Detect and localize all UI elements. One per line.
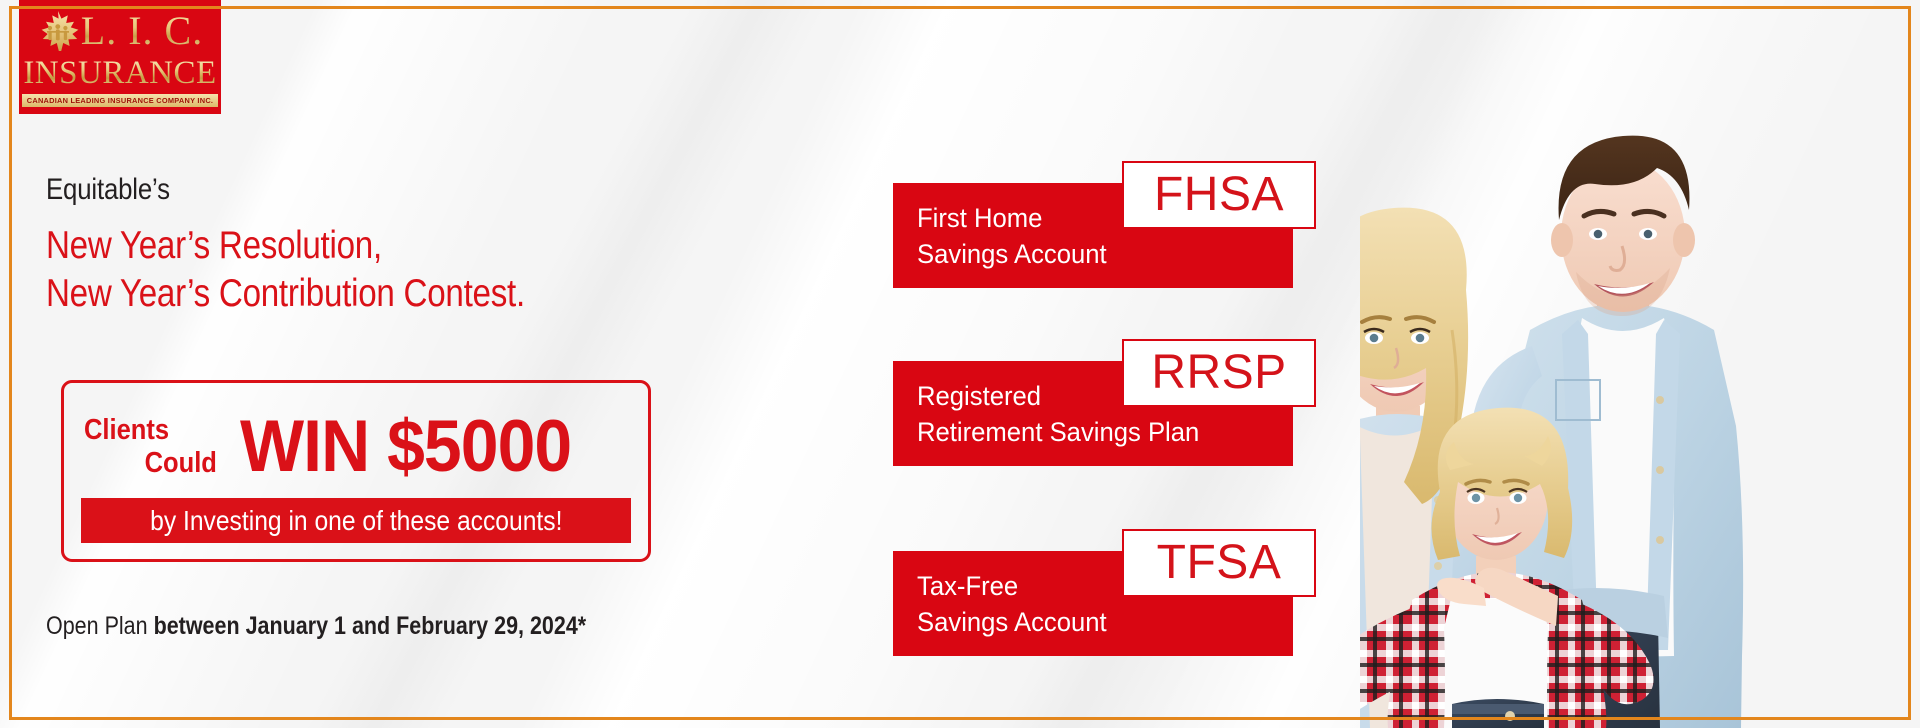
- left-copy-block: Equitable’s New Year’s Resolution, New Y…: [46, 170, 706, 320]
- could-label: Could: [84, 447, 225, 480]
- company-logo[interactable]: L. I. C. INSURANCE CANADIAN LEADING INSU…: [19, 0, 221, 114]
- prize-condition-text: by Investing in one of these accounts!: [150, 504, 562, 538]
- eyebrow-text: Equitable’s: [46, 170, 614, 210]
- badge-tag-fhsa: FHSA: [1122, 161, 1316, 229]
- badge-tfsa-acronym: TFSA: [1157, 537, 1282, 589]
- footnote-plain-text: Open Plan: [46, 612, 154, 640]
- clients-label: Clients: [84, 414, 169, 446]
- badge-tfsa-line-2: Savings Account: [917, 604, 1274, 640]
- logo-top-row: L. I. C.: [37, 6, 203, 56]
- logo-tagline: CANADIAN LEADING INSURANCE COMPANY INC.: [22, 94, 218, 107]
- account-badge-rrsp[interactable]: Registered Retirement Savings Plan RRSP: [893, 339, 1323, 469]
- prize-amount: WIN $5000: [240, 410, 571, 484]
- logo-insurance-text: INSURANCE: [23, 57, 216, 90]
- badge-fhsa-line-2: Savings Account: [917, 236, 1274, 272]
- clients-could-label: Clients Could: [84, 414, 225, 480]
- offer-period-footnote: Open Plan between January 1 and February…: [46, 611, 586, 641]
- logo-lic-text: L. I. C.: [81, 9, 203, 53]
- promotional-banner: L. I. C. INSURANCE CANADIAN LEADING INSU…: [0, 0, 1920, 728]
- headline-line-1: New Year’s Resolution,: [46, 220, 607, 272]
- badge-rrsp-acronym: RRSP: [1151, 347, 1286, 399]
- headline-line-2: New Year’s Contribution Contest.: [46, 268, 607, 320]
- prize-top-row: Clients Could WIN $5000: [64, 397, 648, 497]
- badge-rrsp-line-2: Retirement Savings Plan: [917, 414, 1274, 450]
- badge-fhsa-acronym: FHSA: [1154, 169, 1284, 221]
- prize-condition-strip: by Investing in one of these accounts!: [81, 498, 631, 543]
- account-badge-tfsa[interactable]: Tax-Free Savings Account TFSA: [893, 529, 1323, 659]
- prize-callout-box: Clients Could WIN $5000 by Investing in …: [61, 380, 651, 562]
- maple-leaf-family-icon: [37, 9, 79, 53]
- account-badge-fhsa[interactable]: First Home Savings Account FHSA: [893, 161, 1323, 291]
- family-photo: [1360, 0, 1920, 728]
- badge-tag-rrsp: RRSP: [1122, 339, 1316, 407]
- footnote-bold-text: between January 1 and February 29, 2024*: [154, 612, 587, 640]
- badge-tag-tfsa: TFSA: [1122, 529, 1316, 597]
